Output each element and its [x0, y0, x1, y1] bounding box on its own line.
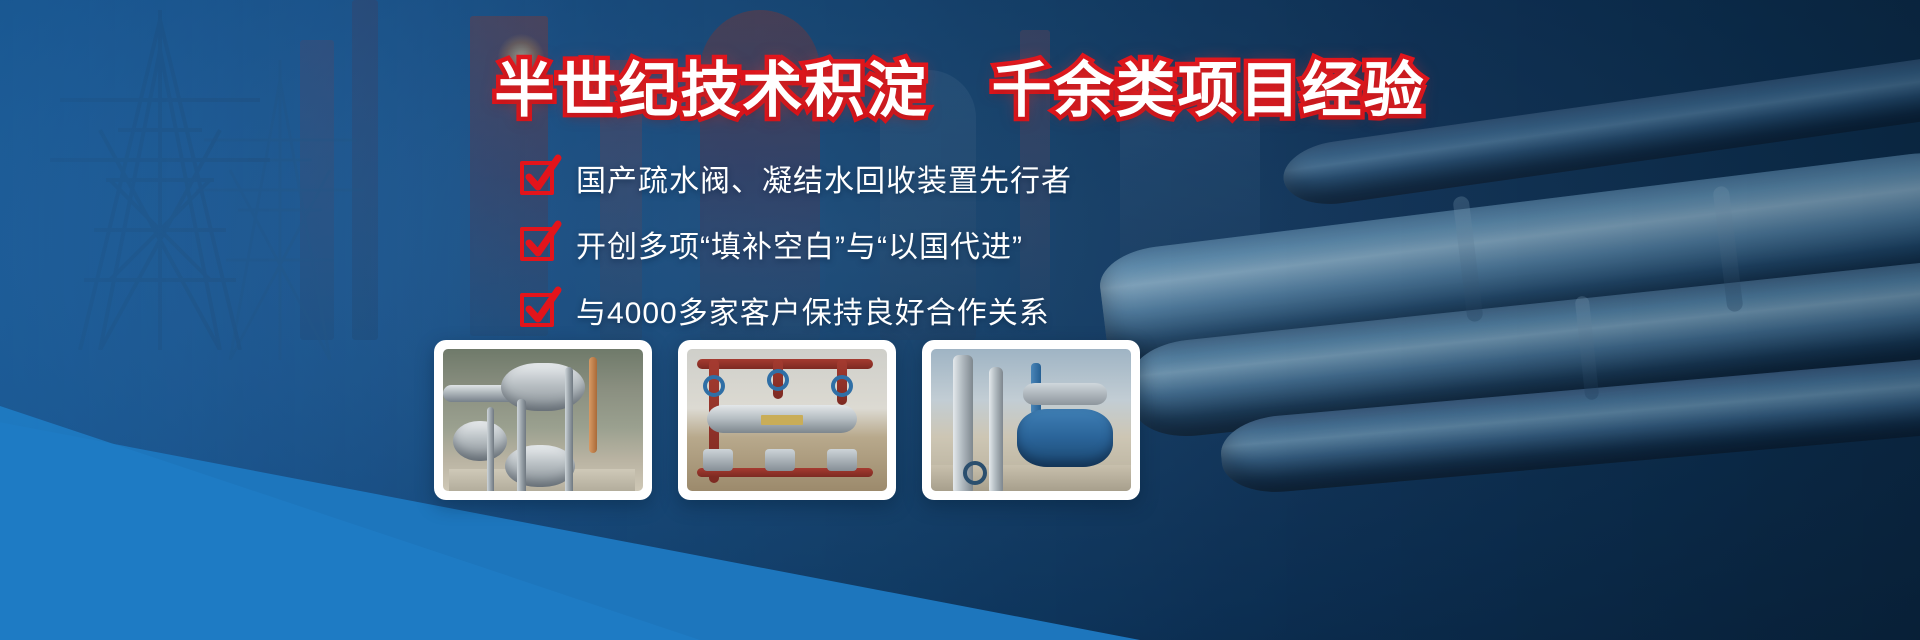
- list-item-label: 与4000多家客户保持良好合作关系: [576, 288, 1050, 332]
- product-photo-card[interactable]: [434, 340, 652, 500]
- banner-bullet-list: 国产疏水阀、凝结水回收装置先行者 开创多项“填补空白”与“以国代进” 与4000…: [520, 150, 1280, 348]
- list-item: 开创多项“填补空白”与“以国代进”: [520, 216, 1280, 272]
- product-photo-blue-condensate-recovery-unit: [931, 349, 1131, 491]
- product-photo-card[interactable]: [922, 340, 1140, 500]
- list-item: 国产疏水阀、凝结水回收装置先行者: [520, 150, 1280, 206]
- product-photo-steam-trap-separator-skid: [443, 349, 643, 491]
- headline-part-1: 半世纪技术积淀: [494, 57, 928, 124]
- list-item-label: 开创多项“填补空白”与“以国代进”: [576, 222, 1023, 266]
- headline-part-2: 千余类项目经验: [992, 57, 1426, 124]
- banner-headline: 半世纪技术积淀 千余类项目经验: [0, 42, 1920, 129]
- product-photo-gallery: [434, 340, 1140, 500]
- product-photo-card[interactable]: [678, 340, 896, 500]
- promo-banner: 半世纪技术积淀 千余类项目经验 国产疏水阀、凝结水回收装置先行者: [0, 0, 1920, 640]
- checkbox-checked-icon: [520, 161, 554, 195]
- banner-content: 半世纪技术积淀 千余类项目经验 国产疏水阀、凝结水回收装置先行者: [0, 0, 1920, 640]
- list-item-label: 国产疏水阀、凝结水回收装置先行者: [576, 156, 1072, 200]
- checkbox-checked-icon: [520, 293, 554, 327]
- product-photo-red-pipeline-pump-skid: [687, 349, 887, 491]
- list-item: 与4000多家客户保持良好合作关系: [520, 282, 1280, 338]
- checkbox-checked-icon: [520, 227, 554, 261]
